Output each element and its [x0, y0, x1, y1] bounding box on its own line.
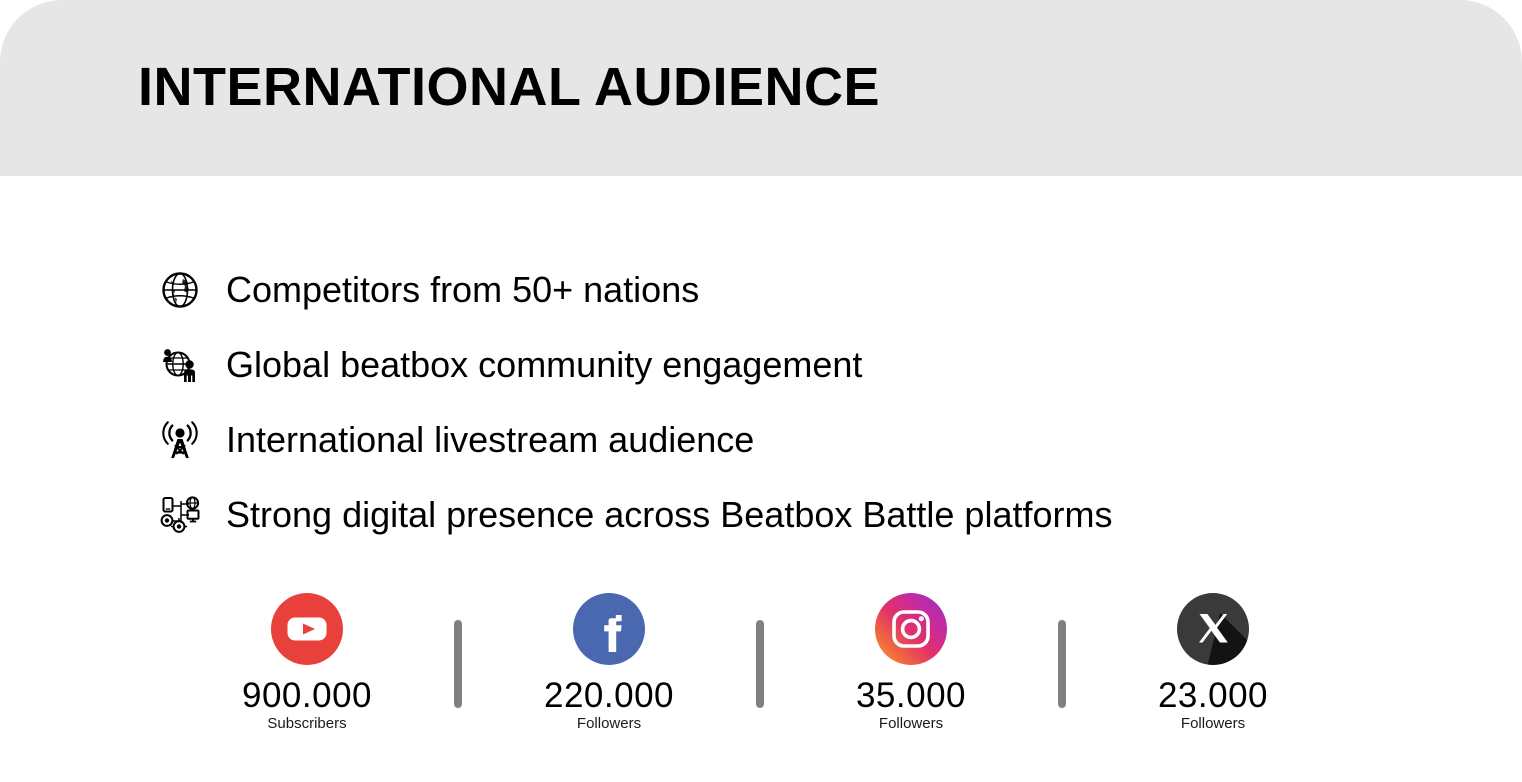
- social-stat-youtube[interactable]: 900.000 Subscribers: [232, 592, 382, 731]
- globe-icon: [158, 267, 202, 313]
- bullet-label: Competitors from 50+ nations: [226, 270, 699, 310]
- social-count: 220.000: [544, 678, 674, 713]
- instagram-icon[interactable]: [874, 592, 948, 666]
- social-divider-slot: [684, 592, 836, 708]
- vertical-divider: [756, 620, 764, 708]
- social-label: Subscribers: [267, 716, 346, 731]
- social-label: Followers: [879, 716, 943, 731]
- social-stat-instagram[interactable]: 35.000 Followers: [836, 592, 986, 731]
- social-count: 35.000: [856, 678, 966, 713]
- x-icon[interactable]: [1176, 592, 1250, 666]
- bullet-list: Competitors from 50+ nations: [158, 252, 1398, 552]
- bullet-label: Global beatbox community engagement: [226, 345, 862, 385]
- header-band: INTERNATIONAL AUDIENCE: [0, 0, 1522, 176]
- social-label: Followers: [1181, 716, 1245, 731]
- social-label: Followers: [577, 716, 641, 731]
- bullet-item: Competitors from 50+ nations: [158, 252, 1398, 327]
- facebook-icon[interactable]: [572, 592, 646, 666]
- globe-person-icon: [158, 342, 202, 388]
- social-divider-slot: [382, 592, 534, 708]
- bullet-item: Global beatbox community engagement: [158, 327, 1398, 402]
- slide-canvas: INTERNATIONAL AUDIENCE Competitors from …: [0, 0, 1522, 782]
- bullet-item: Strong digital presence across Beatbox B…: [158, 477, 1398, 552]
- social-stat-facebook[interactable]: 220.000 Followers: [534, 592, 684, 731]
- broadcast-tower-icon: [158, 417, 202, 463]
- bullet-item: International livestream audience: [158, 402, 1398, 477]
- bullet-label: International livestream audience: [226, 420, 754, 460]
- social-count: 900.000: [242, 678, 372, 713]
- social-stat-x[interactable]: 23.000 Followers: [1138, 592, 1288, 731]
- vertical-divider: [1058, 620, 1066, 708]
- social-stats-strip: 900.000 Subscribers 220.000 Followers: [232, 592, 1342, 731]
- vertical-divider: [454, 620, 462, 708]
- page-title: INTERNATIONAL AUDIENCE: [138, 58, 880, 116]
- youtube-icon[interactable]: [270, 592, 344, 666]
- social-divider-slot: [986, 592, 1138, 708]
- bullet-label: Strong digital presence across Beatbox B…: [226, 495, 1112, 535]
- network-devices-icon: [158, 492, 202, 538]
- social-count: 23.000: [1158, 678, 1268, 713]
